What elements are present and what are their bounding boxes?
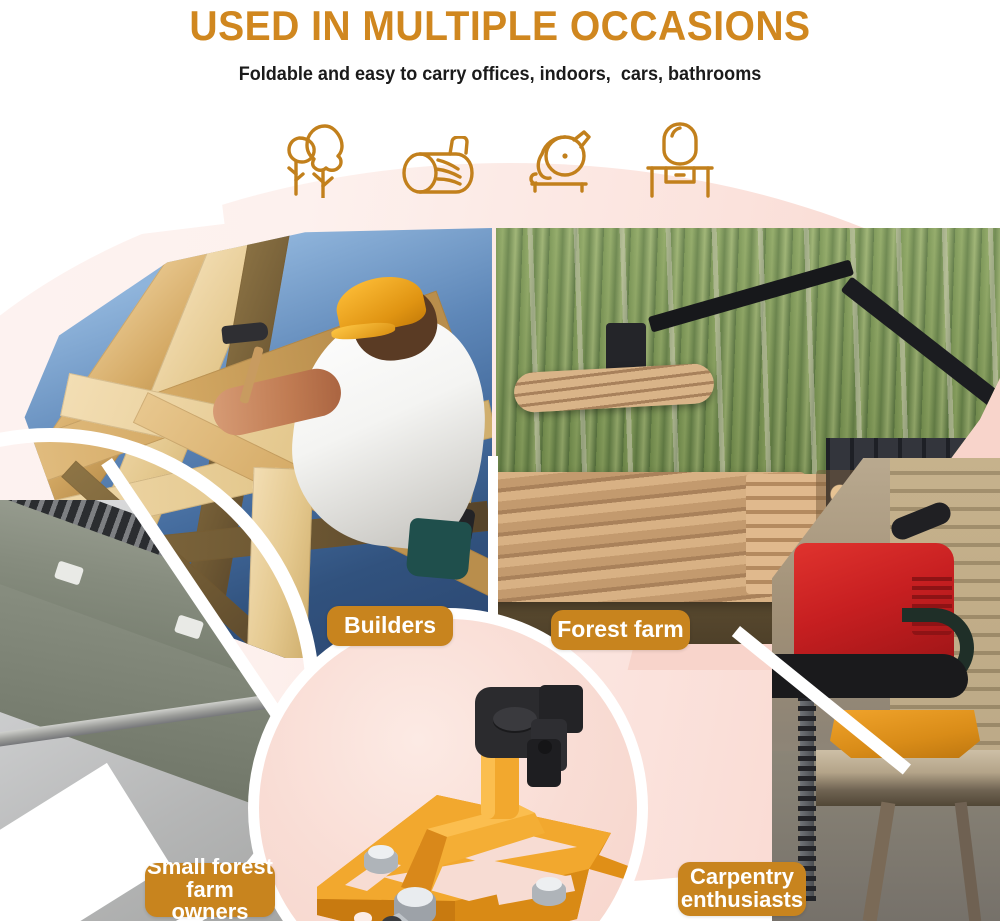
label-builders: Builders [327,606,453,646]
product-hero-circle [248,608,648,921]
label-small-forest-farm-owners: Small forest farm owners [145,863,275,917]
trees-icon [275,118,365,198]
page-title: USED IN MULTIPLE OCCASIONS [35,2,965,50]
chainsaw-mill-bracket [259,619,648,921]
use-case-icon-row [275,118,725,198]
page-subtitle: Foldable and easy to carry offices, indo… [25,64,975,86]
header: USED IN MULTIPLE OCCASIONS Foldable and … [0,0,1000,200]
label-forest-farm: Forest farm [551,610,690,650]
vanity-table-icon [635,118,725,198]
tool-bag [406,517,473,580]
log-icon [395,118,485,198]
wood-plank [816,750,1000,806]
marketing-infographic: USED IN MULTIPLE OCCASIONS Foldable and … [0,0,1000,921]
label-carpentry-enthusiasts: Carpentry enthusiasts [678,862,806,916]
chop-saw-icon [515,118,605,198]
